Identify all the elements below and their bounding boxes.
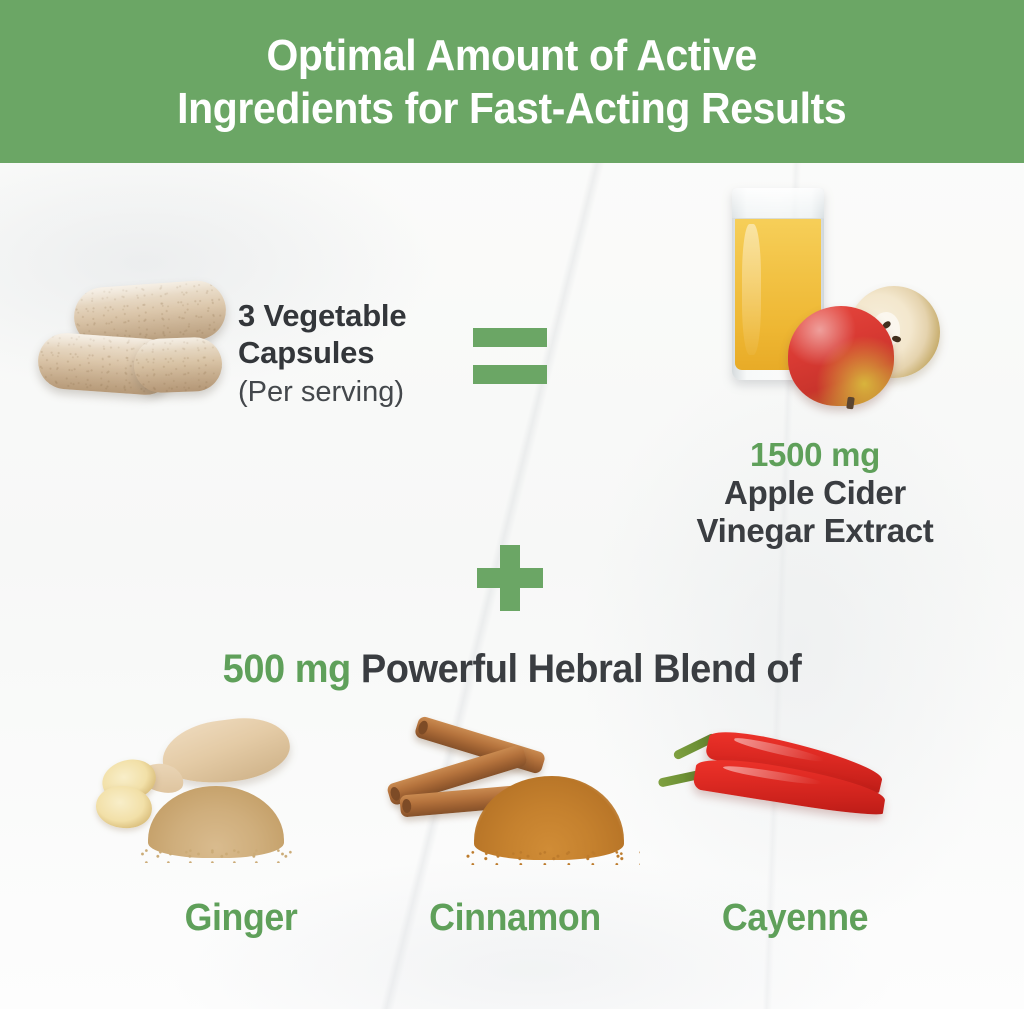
capsules-label-line-1: 3 Vegetable: [238, 297, 468, 334]
plus-icon: [477, 545, 543, 611]
acv-name-line-2: Vinegar Extract: [620, 512, 1010, 550]
per-serving-note: (Per serving): [238, 374, 468, 410]
ingredient-ginger: Ginger: [96, 712, 386, 940]
apple-whole-icon: [788, 306, 894, 406]
ginger-image: [96, 712, 386, 880]
ingredient-label-cayenne: Cayenne: [659, 896, 932, 940]
blend-heading: 500 mg Powerful Hebral Blend of: [26, 645, 999, 693]
page-title-line-2: Ingredients for Fast-Acting Results: [177, 82, 846, 135]
ginger-powder-pile: [148, 786, 284, 858]
ingredient-cinnamon: Cinnamon: [370, 712, 660, 940]
acv-text-block: 1500 mg Apple Cider Vinegar Extract: [620, 436, 1010, 550]
apple-cider-vinegar-image: [690, 188, 940, 418]
capsules-text-block: 3 Vegetable Capsules (Per serving): [238, 297, 468, 410]
page-title-line-1: Optimal Amount of Active: [267, 29, 757, 82]
capsules-label-line-2: Capsules: [238, 334, 468, 371]
blend-amount: 500 mg: [223, 647, 351, 691]
capsule-right-icon: [133, 336, 223, 393]
cayenne-image: [650, 712, 940, 880]
blend-description: Powerful Hebral Blend of: [361, 647, 801, 691]
ingredient-cayenne: Cayenne: [650, 712, 940, 940]
ingredient-label-ginger: Ginger: [105, 896, 378, 940]
equals-icon: [473, 328, 547, 384]
ingredient-label-cinnamon: Cinnamon: [379, 896, 652, 940]
acv-name-line-1: Apple Cider: [620, 474, 1010, 512]
cinnamon-image: [370, 712, 660, 880]
header-banner: Optimal Amount of Active Ingredients for…: [0, 0, 1024, 163]
acv-amount: 1500 mg: [620, 436, 1010, 474]
vegetable-capsules-image: [38, 280, 228, 415]
glass-rim: [732, 188, 824, 219]
